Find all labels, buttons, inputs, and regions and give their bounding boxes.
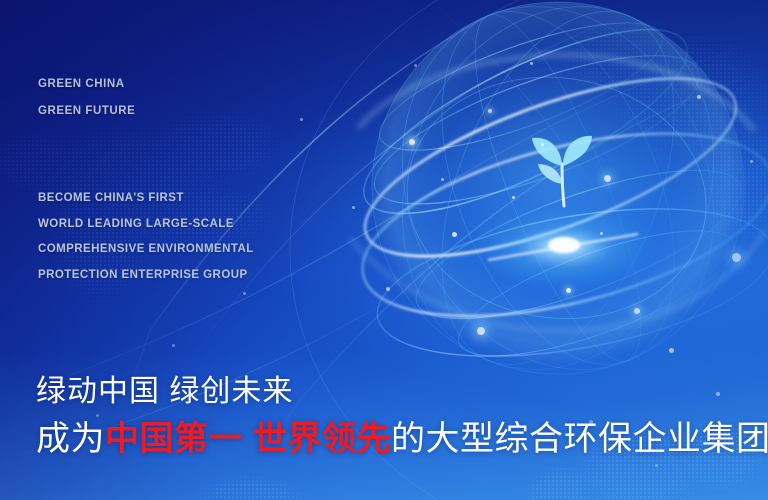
tagline-line-1: GREEN CHINA [38,71,135,98]
hero-banner: GREEN CHINA GREEN FUTURE BECOME CHINA'S … [0,0,768,500]
mission-line-2: WORLD LEADING LARGE-SCALE [38,212,254,238]
tagline-line-2: GREEN FUTURE [38,98,135,125]
mission-block: BECOME CHINA'S FIRST WORLD LEADING LARGE… [38,186,254,288]
tagline-block: GREEN CHINA GREEN FUTURE [38,71,135,125]
subhead-chinese: 成为中国第一 世界领先的大型综合环保企业集团 [36,411,768,460]
subhead-suffix: 的大型综合环保企业集团 [391,420,768,458]
mission-line-1: BECOME CHINA'S FIRST [38,186,254,212]
subhead-highlight: 中国第一 世界领先 [105,420,391,458]
sprout-icon [532,136,592,206]
mission-line-3: COMPREHENSIVE ENVIRONMENTAL [38,237,254,263]
headline-chinese: 绿动中国 绿创未来 [36,366,293,410]
subhead-prefix: 成为 [36,420,105,458]
wireframe-globe [300,0,768,420]
mission-line-4: PROTECTION ENTERPRISE GROUP [38,263,254,289]
